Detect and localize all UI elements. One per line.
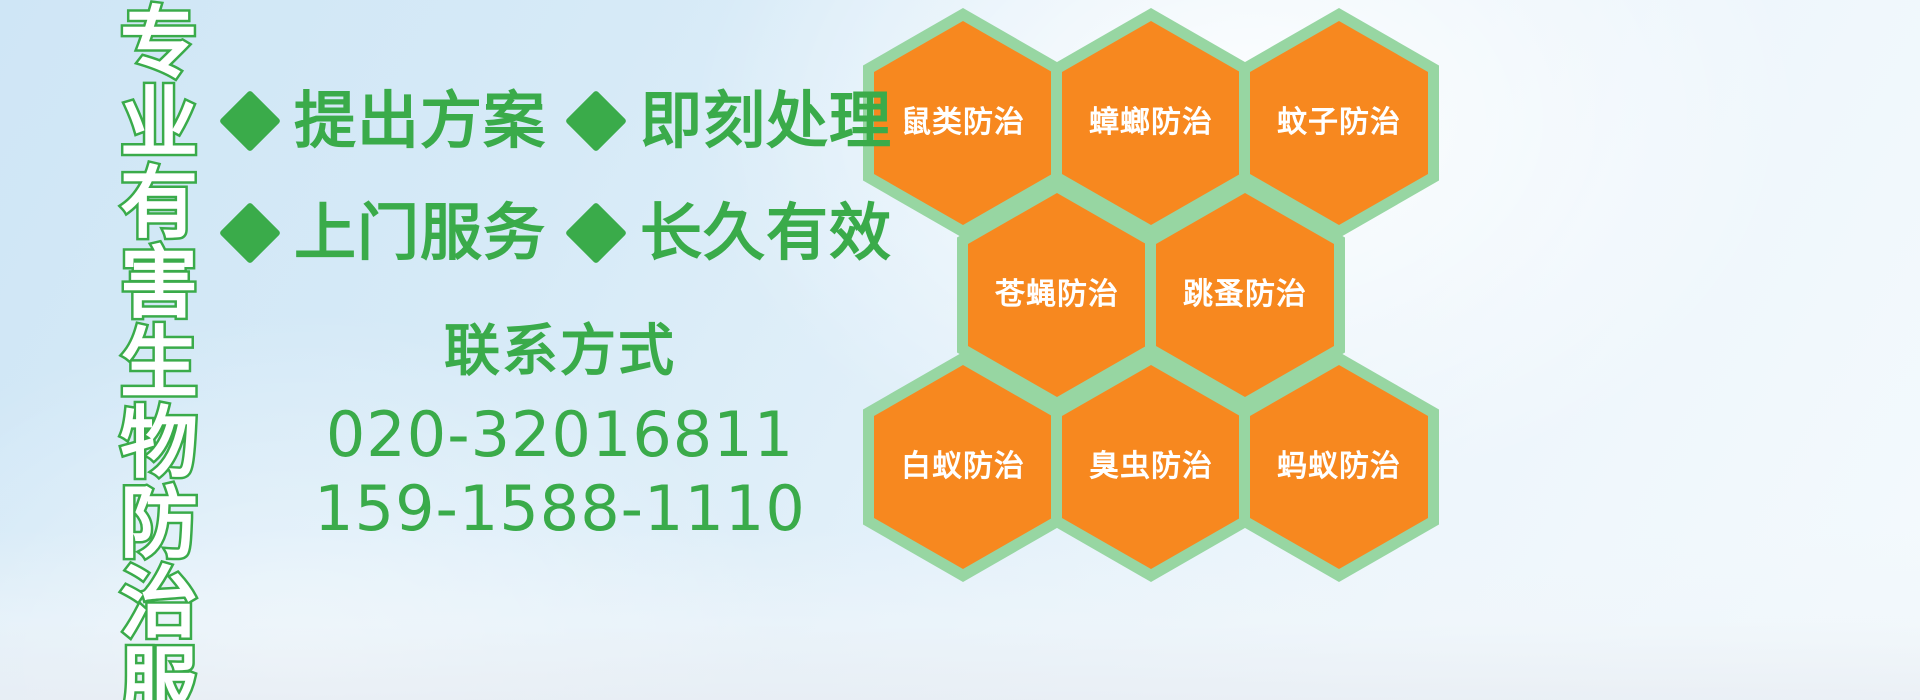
feature-item: 长久有效 bbox=[574, 202, 892, 264]
vertical-headline-char: 专 bbox=[120, 4, 198, 84]
service-hex-ant[interactable]: 蚂蚁防治 bbox=[1239, 352, 1439, 582]
diamond-bullet-icon bbox=[565, 202, 627, 264]
vertical-headline-char: 治 bbox=[120, 564, 198, 644]
diamond-bullet-icon bbox=[219, 90, 281, 152]
hex-label: 蚊子防治 bbox=[1277, 106, 1401, 140]
feature-row-1: 提出方案 即刻处理 bbox=[228, 90, 892, 152]
vertical-headline-char: 物 bbox=[120, 404, 198, 484]
contact-title: 联系方式 bbox=[300, 320, 820, 384]
vertical-headline-char: 业 bbox=[120, 84, 198, 164]
diamond-bullet-icon bbox=[219, 202, 281, 264]
feature-item: 提出方案 bbox=[228, 90, 546, 152]
feature-row-2: 上门服务 长久有效 bbox=[228, 202, 892, 264]
contact-phone-landline[interactable]: 020-32016811 bbox=[300, 398, 820, 472]
feature-label: 长久有效 bbox=[640, 202, 892, 264]
feature-label: 上门服务 bbox=[294, 202, 546, 264]
hex-label: 鼠类防治 bbox=[901, 106, 1025, 140]
service-hex-termite[interactable]: 白蚁防治 bbox=[863, 352, 1063, 582]
feature-label: 提出方案 bbox=[294, 90, 546, 152]
hex-label: 蟑螂防治 bbox=[1089, 106, 1213, 140]
service-hex-grid: 鼠类防治 蟑螂防治 蚊子防治 苍蝇防治 跳蚤防治 bbox=[855, 0, 1475, 600]
feature-item: 上门服务 bbox=[228, 202, 546, 264]
contact-block: 联系方式 020-32016811 159-1588-1110 bbox=[300, 320, 820, 546]
vertical-headline-char: 生 bbox=[120, 324, 198, 404]
hex-label: 蚂蚁防治 bbox=[1277, 450, 1401, 484]
vertical-headline-char: 服 bbox=[120, 644, 198, 700]
contact-phone-mobile[interactable]: 159-1588-1110 bbox=[300, 472, 820, 546]
vertical-headline-char: 害 bbox=[120, 244, 198, 324]
hex-label: 白蚁防治 bbox=[901, 450, 1025, 484]
service-hex-bedbug[interactable]: 臭虫防治 bbox=[1051, 352, 1251, 582]
vertical-headline: 专 业 有 害 生 物 防 治 服 务 bbox=[104, 4, 214, 664]
diamond-bullet-icon bbox=[565, 90, 627, 152]
hex-label: 跳蚤防治 bbox=[1183, 278, 1307, 312]
vertical-headline-char: 有 bbox=[120, 164, 198, 244]
banner-canvas: 专 业 有 害 生 物 防 治 服 务 提出方案 即刻处理 上门服务 长久有效 bbox=[0, 0, 1920, 700]
hex-label: 苍蝇防治 bbox=[995, 278, 1119, 312]
feature-item: 即刻处理 bbox=[574, 90, 892, 152]
vertical-headline-char: 防 bbox=[120, 484, 198, 564]
hex-label: 臭虫防治 bbox=[1089, 450, 1213, 484]
feature-label: 即刻处理 bbox=[640, 90, 892, 152]
